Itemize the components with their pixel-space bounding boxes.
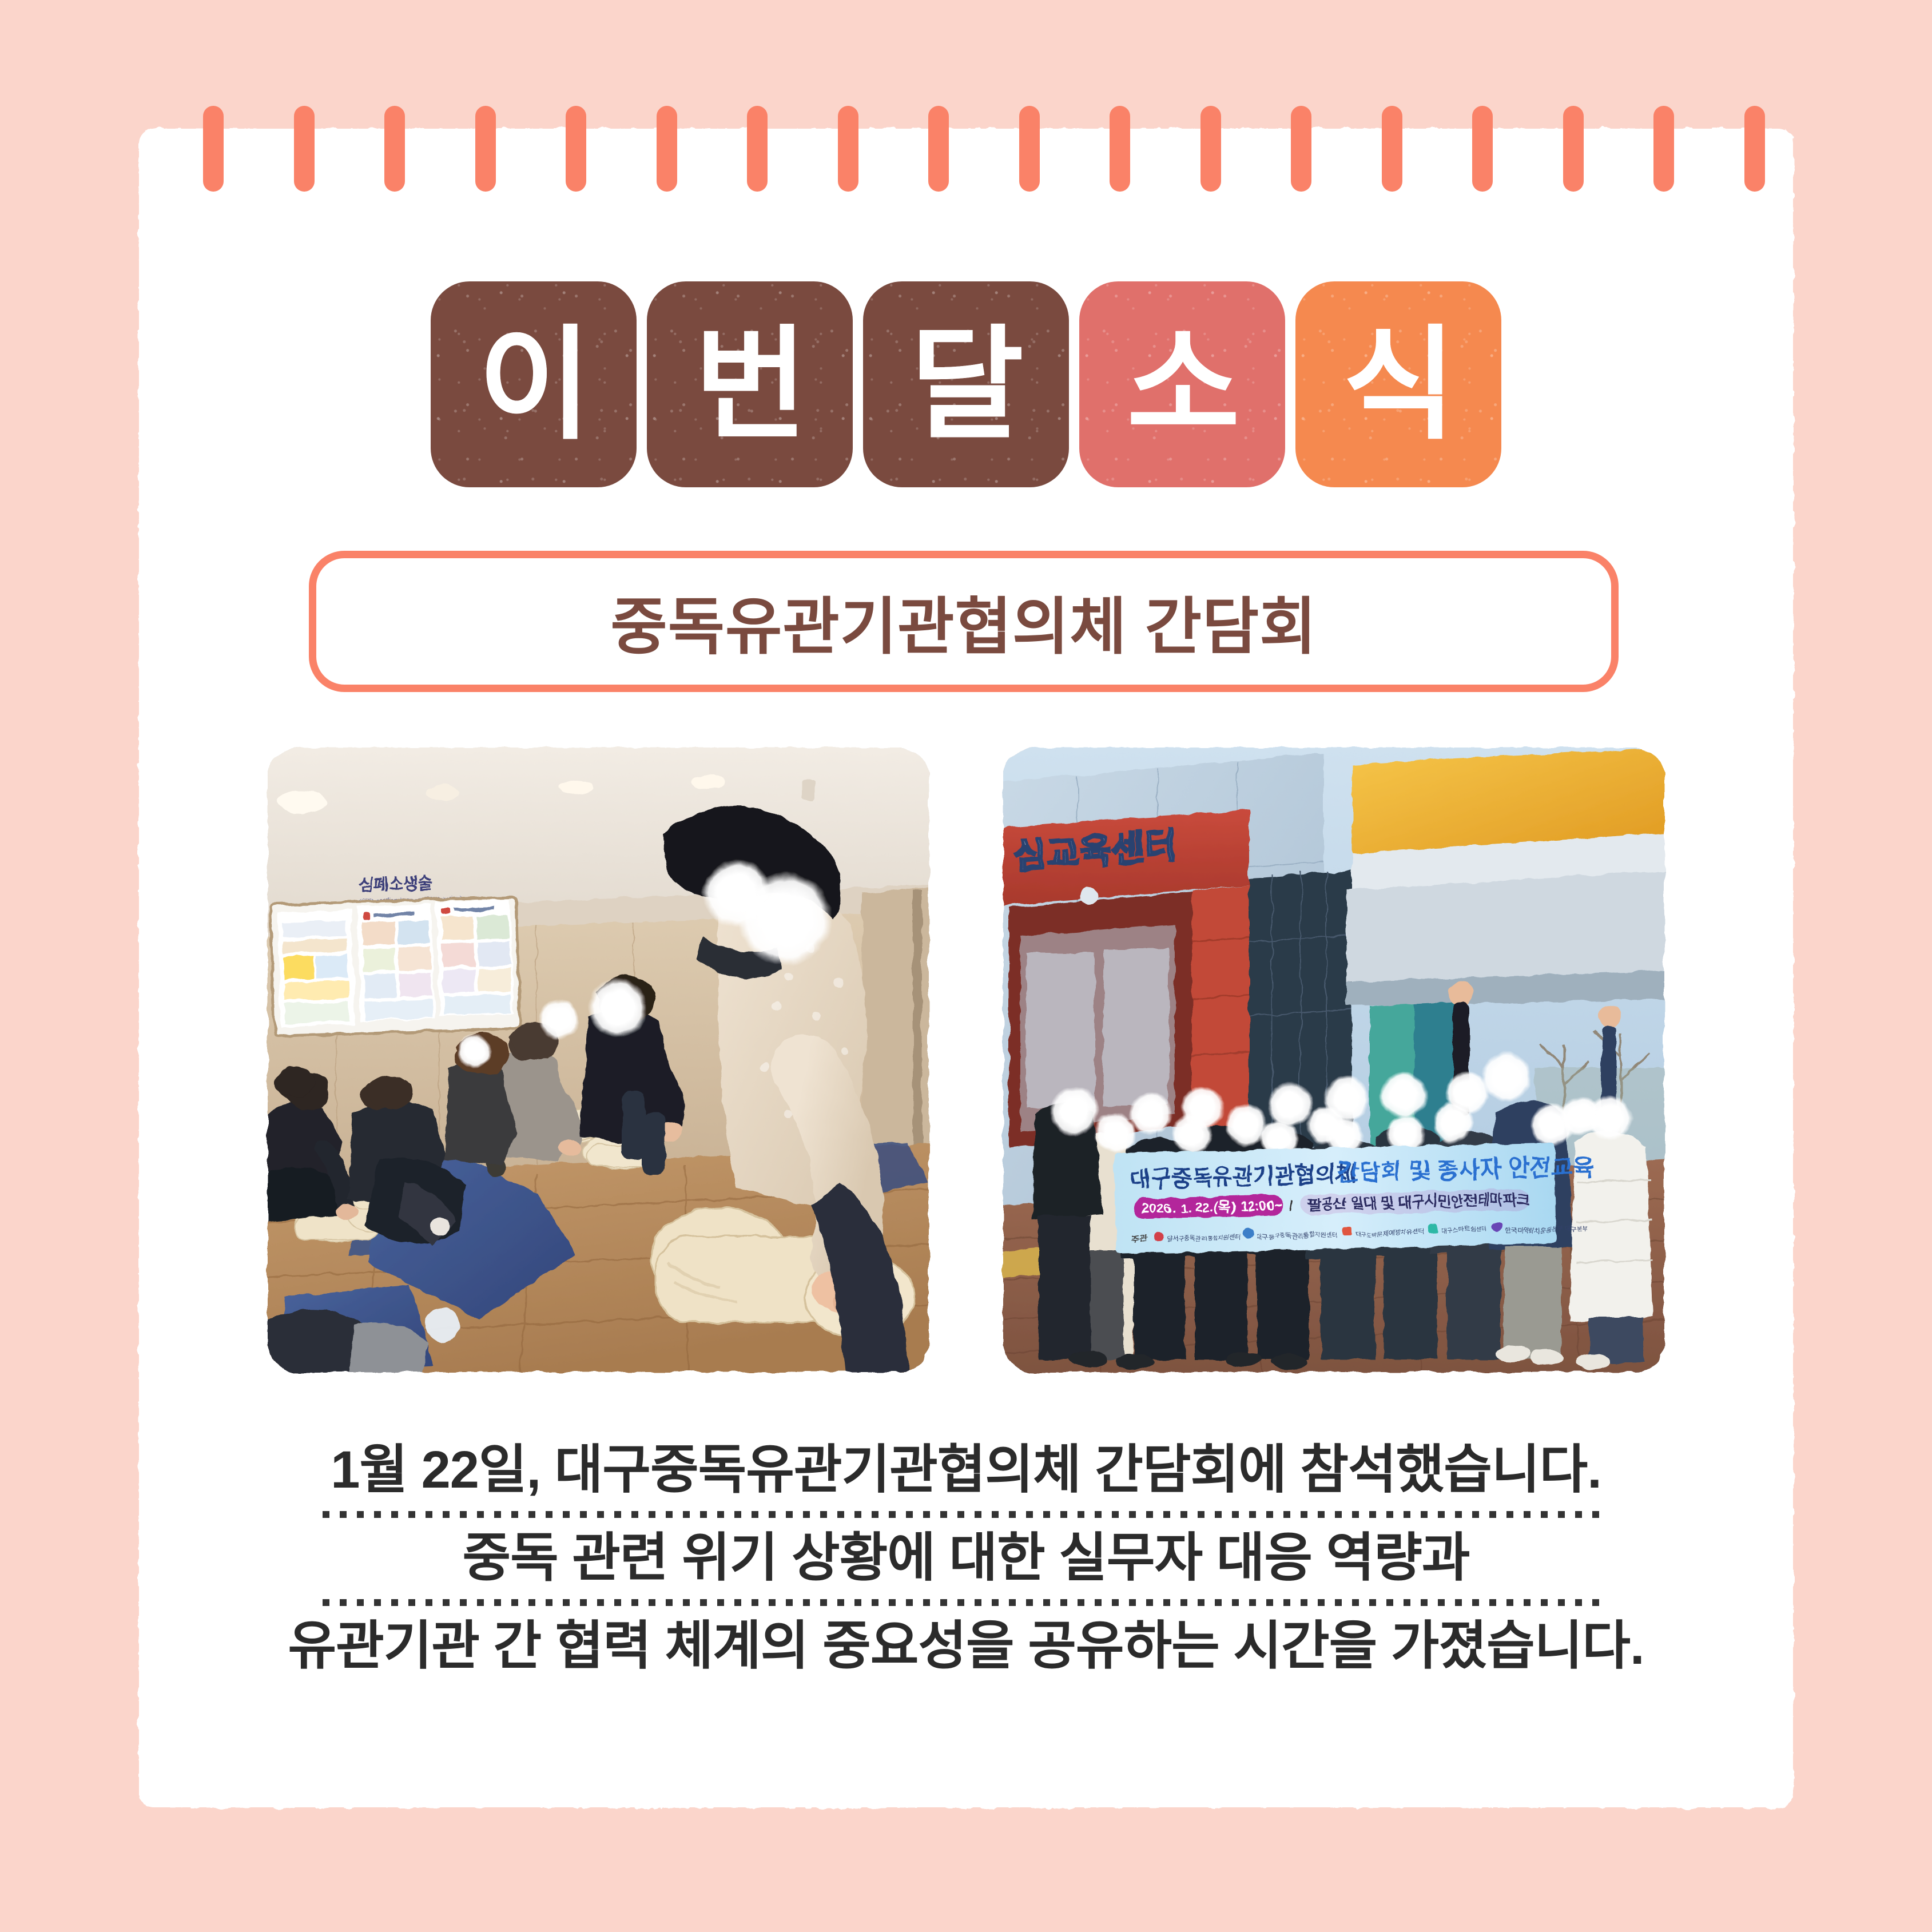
page-title: 이번달소식 xyxy=(0,281,1932,487)
title-tile-5: 식 xyxy=(1295,281,1501,487)
caption-block: 1월 22일, 대구중독유관기관협의체 간담회에 참석했습니다.중독 관련 위기… xyxy=(0,1436,1932,1678)
photo-gallery: 심폐소생술 (CPR cardiopulmonary resuscitation… xyxy=(0,748,1932,1372)
subtitle-box: 중독유관기관협의체 간담회 xyxy=(309,551,1619,692)
title-tile-3: 달 xyxy=(863,281,1069,487)
title-tile-2: 번 xyxy=(647,281,853,487)
caption-line-3: 유관기관 간 협력 체계의 중요성을 공유하는 시간을 가졌습니다. xyxy=(0,1612,1932,1678)
title-tile-4: 소 xyxy=(1079,281,1285,487)
svg-text:/: / xyxy=(1289,1198,1293,1214)
caption-line-1: 1월 22일, 대구중독유관기관협의체 간담회에 참석했습니다. xyxy=(0,1436,1932,1502)
svg-text:심폐소생술: 심폐소생술 xyxy=(359,874,433,894)
svg-text:대구스마트쉼센터: 대구스마트쉼센터 xyxy=(1441,1225,1487,1234)
photo-cpr-training[interactable]: 심폐소생술 (CPR cardiopulmonary resuscitation… xyxy=(268,748,929,1372)
subtitle-text: 중독유관기관협의체 간담회 xyxy=(610,577,1317,666)
caption-divider xyxy=(323,1599,1609,1606)
photo-group-banner[interactable]: 심교육센터 xyxy=(1003,748,1664,1372)
caption-line-2: 중독 관련 위기 상황에 대한 실무자 대응 역량과 xyxy=(0,1524,1932,1590)
title-tile-1: 이 xyxy=(431,281,637,487)
svg-text:주관: 주관 xyxy=(1131,1234,1147,1245)
caption-divider xyxy=(323,1511,1609,1518)
